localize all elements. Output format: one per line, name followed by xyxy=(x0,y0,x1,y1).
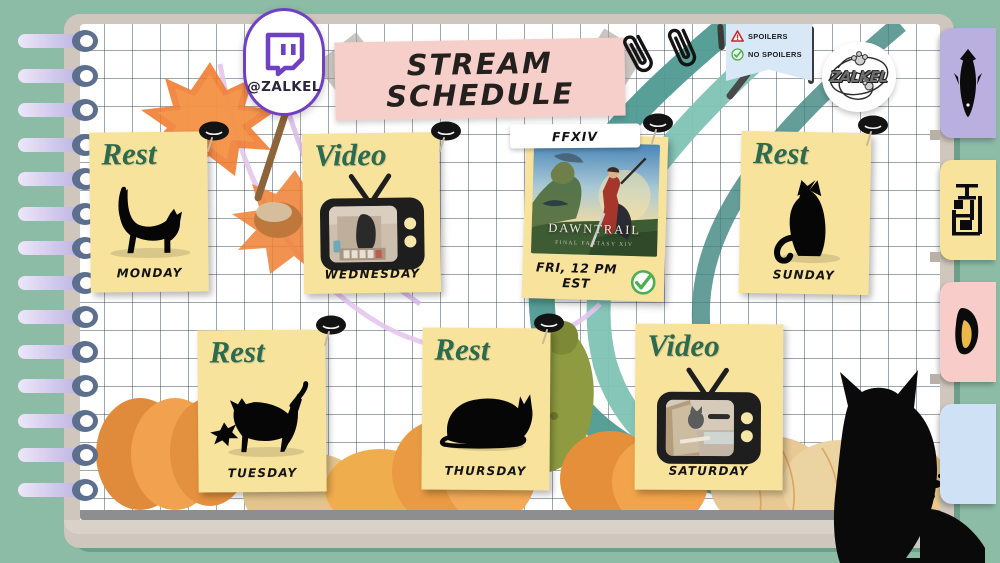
card-title-wednesday: Video xyxy=(314,139,387,171)
twitch-glitch-icon xyxy=(262,31,306,77)
card-day-tuesday: TUESDAY xyxy=(198,465,326,480)
spiral-ring xyxy=(18,479,104,501)
pushpin-icon xyxy=(855,112,891,146)
card-title-monday: Rest xyxy=(101,138,156,170)
pushpin-icon xyxy=(428,118,464,152)
side-tab-cat-bed[interactable] xyxy=(940,282,996,382)
legend-row-no-spoilers: NO SPOILERS xyxy=(731,48,808,61)
tv-knob-top xyxy=(404,217,416,229)
spiral-ring xyxy=(18,99,104,121)
warning-triangle-icon xyxy=(731,30,744,42)
check-circle-icon xyxy=(731,48,744,61)
card-title-saturday: Video xyxy=(647,330,720,361)
pushpin-icon xyxy=(313,312,349,346)
walking-cat-silhouette-icon xyxy=(100,178,199,259)
card-title-thursday: Rest xyxy=(434,334,489,365)
tv-screen-photo xyxy=(666,400,734,456)
card-day-sunday: SUNDAY xyxy=(739,267,869,283)
spiral-ring xyxy=(18,30,104,52)
legend-label-no-spoilers: NO SPOILERS xyxy=(748,50,802,59)
card-title-tuesday: Rest xyxy=(209,336,264,367)
schedule-canvas: STREAM SCHEDULE @ZALKEL SPOILERS xyxy=(0,0,1000,563)
schedule-card-monday[interactable]: Rest MONDAY xyxy=(89,131,209,292)
tv-knob-bottom xyxy=(741,430,753,442)
spiral-ring xyxy=(18,375,104,397)
pushpin-icon xyxy=(531,310,567,344)
prowling-cat-silhouette-icon xyxy=(210,378,315,459)
legend-label-spoilers: SPOILERS xyxy=(748,32,788,41)
tv-knob-bottom xyxy=(404,235,416,247)
card-art-monday xyxy=(90,175,209,262)
schedule-card-sunday[interactable]: Rest SUNDAY xyxy=(739,131,872,295)
check-circle-icon xyxy=(630,269,657,296)
schedule-card-saturday[interactable]: Video xyxy=(635,324,784,491)
tab-notch xyxy=(930,252,940,262)
pushpin-icon xyxy=(196,118,232,152)
legend-row-spoilers: SPOILERS xyxy=(731,30,808,42)
side-tab-blue[interactable] xyxy=(940,404,996,504)
cat-bed-icon xyxy=(952,306,984,358)
featured-time: FRI, 12 PM EST xyxy=(522,259,631,292)
twitch-badge[interactable]: @ZALKEL xyxy=(243,8,325,116)
card-art-tuesday xyxy=(198,373,327,462)
pushpin-icon xyxy=(640,110,676,144)
side-tab-cat-tree[interactable] xyxy=(940,160,996,260)
zalkel-sticker[interactable]: ZALKEL xyxy=(822,42,896,112)
featured-label-ffxiv: FFXIV xyxy=(510,123,640,148)
spiral-ring xyxy=(18,444,104,466)
tv-knob-top xyxy=(741,412,753,424)
schedule-card-thursday[interactable]: Rest THURSDAY xyxy=(421,328,550,491)
schedule-card-tuesday[interactable]: Rest TUESDAY xyxy=(197,329,326,492)
ffxiv-key-art: DAWNTRAIL FINAL FANTASY XIV xyxy=(531,141,660,256)
spiral-ring xyxy=(18,306,104,328)
card-day-wednesday: WEDNESDAY xyxy=(304,266,441,282)
zalkel-sticker-text: ZALKEL xyxy=(829,68,888,86)
card-art-wednesday xyxy=(303,176,441,264)
retro-tv-icon xyxy=(311,167,432,273)
loaf-cat-silhouette-icon xyxy=(434,380,539,453)
card-day-saturday: SATURDAY xyxy=(635,464,783,479)
schedule-card-wednesday[interactable]: Video xyxy=(302,132,441,294)
card-art-saturday xyxy=(635,368,783,461)
sitting-cat-silhouette-icon xyxy=(758,175,852,265)
card-day-thursday: THURSDAY xyxy=(422,464,550,479)
tab-notch xyxy=(930,130,940,140)
tv-screen-photo xyxy=(328,206,397,263)
twitch-handle: @ZALKEL xyxy=(247,79,320,95)
page-title-line2: SCHEDULE xyxy=(386,78,575,113)
spiral-ring xyxy=(18,341,104,363)
featured-card-ffxiv[interactable]: DAWNTRAIL FINAL FANTASY XIV FRI, 12 PM E… xyxy=(522,133,669,302)
card-art-thursday xyxy=(422,372,551,461)
page-title: STREAM SCHEDULE xyxy=(334,41,625,118)
card-day-monday: MONDAY xyxy=(91,265,209,280)
card-art-sunday xyxy=(739,175,871,265)
tab-notch xyxy=(930,374,940,384)
cat-tree-icon xyxy=(950,182,986,238)
spiral-ring xyxy=(18,410,104,432)
spiral-ring xyxy=(18,65,104,87)
side-tab-fish[interactable] xyxy=(940,28,996,138)
retro-tv-icon xyxy=(649,362,770,467)
fish-icon xyxy=(954,47,982,119)
card-title-sunday: Rest xyxy=(753,137,809,169)
